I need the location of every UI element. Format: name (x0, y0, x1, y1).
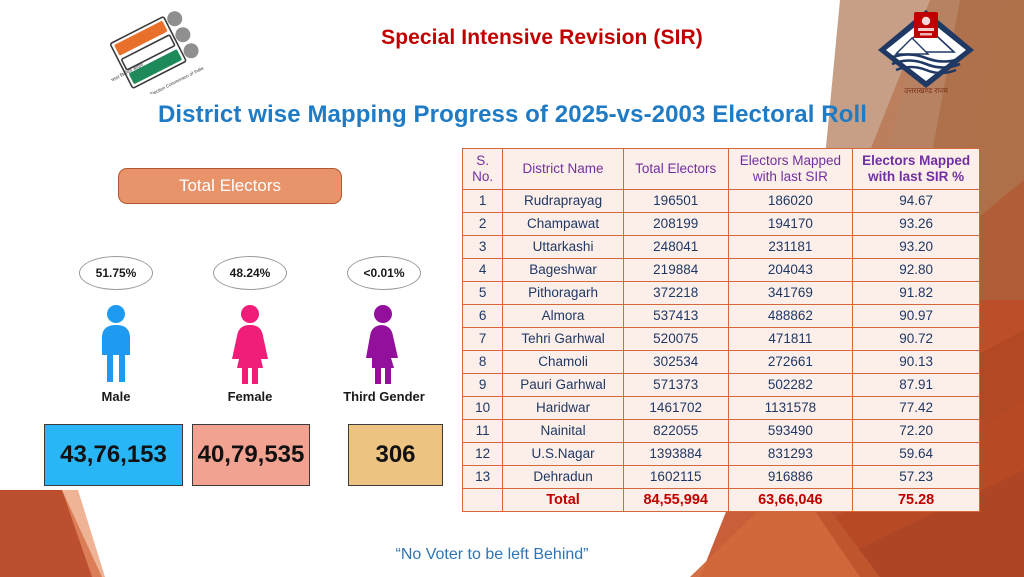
third-gender-percent-bubble: <0.01% (347, 256, 421, 290)
column-header-mapped-pct[interactable]: Electors Mapped with last SIR % (853, 149, 980, 190)
cell-mapped: 593490 (728, 420, 853, 443)
cell-sno: 6 (463, 305, 503, 328)
table-row[interactable]: 13Dehradun160211591688657.23 (463, 466, 980, 489)
cell-total: 208199 (623, 213, 728, 236)
table-row[interactable]: 3Uttarkashi24804123118193.20 (463, 236, 980, 259)
cell-sno: 12 (463, 443, 503, 466)
total-electors-pill[interactable]: Total Electors (118, 168, 342, 204)
cell-total: 520075 (623, 328, 728, 351)
cell-mapped: 502282 (728, 374, 853, 397)
table-row[interactable]: 12U.S.Nagar139388483129359.64 (463, 443, 980, 466)
total-pct-cell: 75.28 (853, 489, 980, 512)
cell-total: 196501 (623, 190, 728, 213)
cell-pct: 59.64 (853, 443, 980, 466)
male-figure (56, 302, 176, 384)
cell-total: 1602115 (623, 466, 728, 489)
cell-mapped: 471811 (728, 328, 853, 351)
cell-mapped: 341769 (728, 282, 853, 305)
cell-sno: 8 (463, 351, 503, 374)
gender-column-third: <0.01% Third Gender (324, 256, 444, 404)
cell-pct: 94.67 (853, 190, 980, 213)
table-row[interactable]: 5Pithoragarh37221834176991.82 (463, 282, 980, 305)
male-count-box: 43,76,153 (44, 424, 183, 486)
cell-pct: 93.26 (853, 213, 980, 236)
table-row[interactable]: 4Bageshwar21988420404392.80 (463, 259, 980, 282)
cell-pct: 87.91 (853, 374, 980, 397)
cell-total: 302534 (623, 351, 728, 374)
cell-district: Tehri Garhwal (503, 328, 624, 351)
table-row[interactable]: 11Nainital82205559349072.20 (463, 420, 980, 443)
district-mapping-table: S. No. District Name Total Electors Elec… (462, 148, 980, 512)
uttarakhand-state-emblem: उत्तराखण्ड राज्य (868, 4, 984, 94)
cell-pct: 92.80 (853, 259, 980, 282)
cell-district: Pauri Garhwal (503, 374, 624, 397)
cell-district: Chamoli (503, 351, 624, 374)
cell-pct: 90.97 (853, 305, 980, 328)
cell-total: 219884 (623, 259, 728, 282)
total-mapped-cell: 63,66,046 (728, 489, 853, 512)
table-header-row: S. No. District Name Total Electors Elec… (463, 149, 980, 190)
cell-district: Uttarkashi (503, 236, 624, 259)
male-label: Male (56, 389, 176, 404)
cell-mapped: 1131578 (728, 397, 853, 420)
table-row[interactable]: 10Haridwar1461702113157877.42 (463, 397, 980, 420)
cell-district: U.S.Nagar (503, 443, 624, 466)
table-row[interactable]: 1Rudraprayag19650118602094.67 (463, 190, 980, 213)
female-figure (190, 302, 310, 384)
cell-district: Nainital (503, 420, 624, 443)
cell-sno: 5 (463, 282, 503, 305)
table-row[interactable]: 7Tehri Garhwal52007547181190.72 (463, 328, 980, 351)
state-emblem-caption: उत्तराखण्ड राज्य (904, 86, 948, 94)
cell-district: Champawat (503, 213, 624, 236)
cell-pct: 57.23 (853, 466, 980, 489)
gender-column-male: 51.75% Male (56, 256, 176, 404)
cell-district: Pithoragarh (503, 282, 624, 305)
table-body: 1Rudraprayag19650118602094.672Champawat2… (463, 190, 980, 489)
table-row[interactable]: 2Champawat20819919417093.26 (463, 213, 980, 236)
table-total-row: Total 84,55,994 63,66,046 75.28 (463, 489, 980, 512)
cell-sno: 1 (463, 190, 503, 213)
total-blank-cell (463, 489, 503, 512)
column-header-mapped[interactable]: Electors Mapped with last SIR (728, 149, 853, 190)
column-header-total[interactable]: Total Electors (623, 149, 728, 190)
cell-pct: 90.72 (853, 328, 980, 351)
cell-total: 1461702 (623, 397, 728, 420)
female-count-box: 40,79,535 (192, 424, 310, 486)
column-header-sno[interactable]: S. No. (463, 149, 503, 190)
third-gender-count-box: 306 (348, 424, 443, 486)
slide-canvas: भारत निर्वाचन आयोग Election Commission o… (0, 0, 1024, 577)
column-header-district[interactable]: District Name (503, 149, 624, 190)
cell-mapped: 488862 (728, 305, 853, 328)
cell-mapped: 186020 (728, 190, 853, 213)
cell-total: 1393884 (623, 443, 728, 466)
cell-pct: 77.42 (853, 397, 980, 420)
female-percent-bubble: 48.24% (213, 256, 287, 290)
total-electors-cell: 84,55,994 (623, 489, 728, 512)
cell-sno: 7 (463, 328, 503, 351)
cell-sno: 13 (463, 466, 503, 489)
male-percent-bubble: 51.75% (79, 256, 153, 290)
election-commission-of-india-logo: भारत निर्वाचन आयोग Election Commission o… (104, 8, 220, 94)
cell-district: Bageshwar (503, 259, 624, 282)
cell-pct: 72.20 (853, 420, 980, 443)
gender-column-female: 48.24% Female (190, 256, 310, 404)
cell-district: Dehradun (503, 466, 624, 489)
cell-total: 571373 (623, 374, 728, 397)
cell-mapped: 831293 (728, 443, 853, 466)
table-row[interactable]: 6Almora53741348886290.97 (463, 305, 980, 328)
cell-pct: 93.20 (853, 236, 980, 259)
cell-mapped: 916886 (728, 466, 853, 489)
cell-sno: 9 (463, 374, 503, 397)
cell-pct: 91.82 (853, 282, 980, 305)
third-gender-figure (324, 302, 444, 384)
cell-mapped: 231181 (728, 236, 853, 259)
male-person-icon (94, 304, 138, 384)
cell-district: Haridwar (503, 397, 624, 420)
table-row[interactable]: 8Chamoli30253427266190.13 (463, 351, 980, 374)
table-footer: Total 84,55,994 63,66,046 75.28 (463, 489, 980, 512)
cell-total: 248041 (623, 236, 728, 259)
cell-sno: 10 (463, 397, 503, 420)
cell-total: 822055 (623, 420, 728, 443)
cell-mapped: 272661 (728, 351, 853, 374)
table-row[interactable]: 9Pauri Garhwal57137350228287.91 (463, 374, 980, 397)
cell-total: 372218 (623, 282, 728, 305)
cell-sno: 3 (463, 236, 503, 259)
cell-mapped: 204043 (728, 259, 853, 282)
third-gender-person-icon (362, 304, 406, 384)
footer-tagline: “No Voter to be left Behind” (232, 546, 752, 564)
total-label-cell: Total (503, 489, 624, 512)
third-gender-label: Third Gender (324, 389, 444, 404)
page-title-main: Special Intensive Revision (SIR) (282, 26, 802, 50)
district-mapping-table-wrapper: S. No. District Name Total Electors Elec… (462, 148, 980, 512)
female-person-icon (228, 304, 272, 384)
cell-district: Almora (503, 305, 624, 328)
cell-mapped: 194170 (728, 213, 853, 236)
page-title-sub: District wise Mapping Progress of 2025-v… (60, 101, 965, 129)
female-label: Female (190, 389, 310, 404)
cell-district: Rudraprayag (503, 190, 624, 213)
cell-sno: 4 (463, 259, 503, 282)
cell-sno: 2 (463, 213, 503, 236)
cell-sno: 11 (463, 420, 503, 443)
cell-pct: 90.13 (853, 351, 980, 374)
cell-total: 537413 (623, 305, 728, 328)
